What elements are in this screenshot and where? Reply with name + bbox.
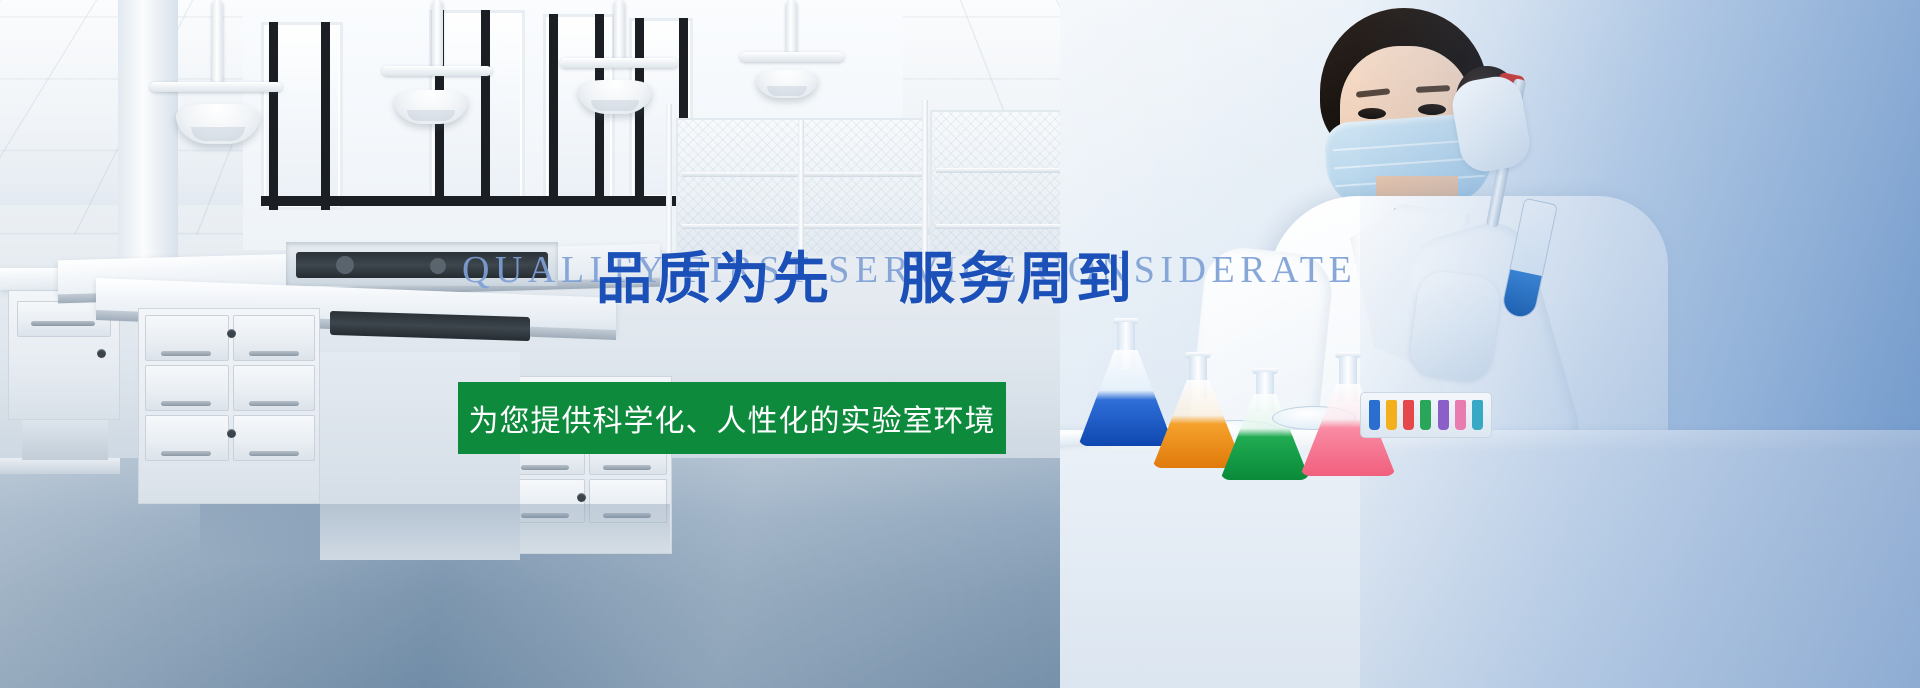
headline-chinese-right: 服务周到: [899, 247, 1135, 312]
subtitle-band: 为您提供科学化、人性化的实验室环境: [458, 382, 1006, 454]
headline-chinese-left: 品质为先: [596, 247, 832, 312]
headline-chinese: 品质为先 服务周到: [596, 252, 1135, 308]
subtitle-text: 为您提供科学化、人性化的实验室环境: [469, 396, 996, 440]
hero-banner: QUALITY FIRST SERVICE CONSIDERATE 品质为先 服…: [0, 0, 1920, 688]
banner-text-overlay: QUALITY FIRST SERVICE CONSIDERATE 品质为先 服…: [0, 0, 1920, 688]
